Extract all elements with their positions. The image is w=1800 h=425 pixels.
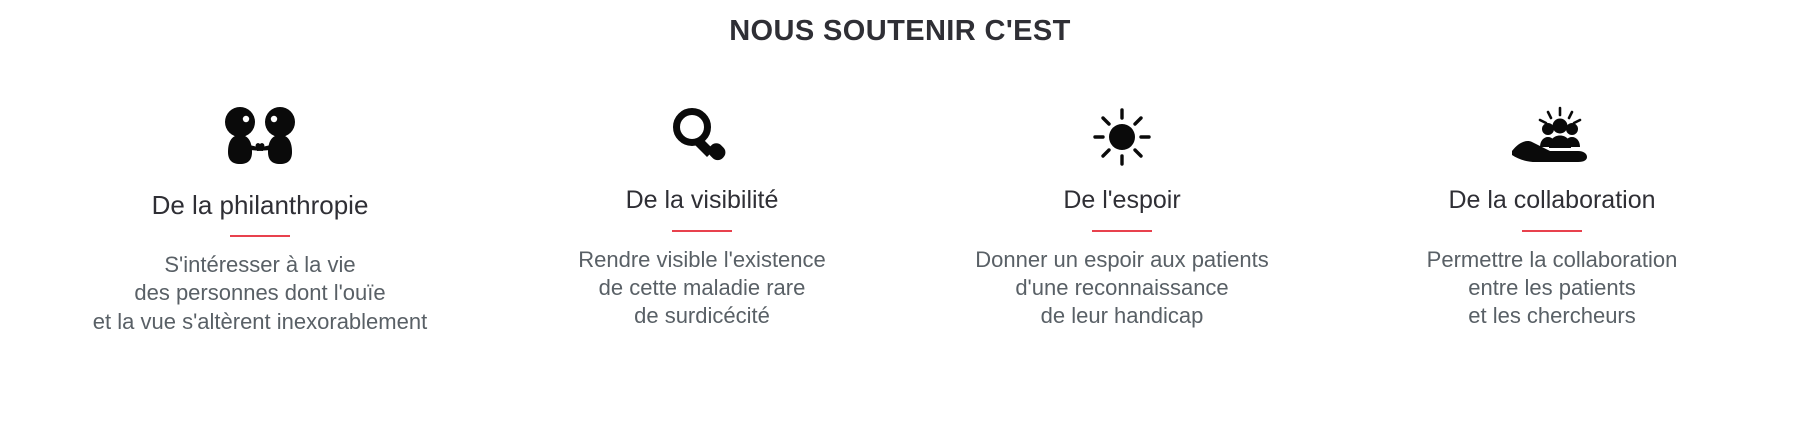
title-divider [1522,230,1582,232]
two-people-giving-icon [218,95,302,167]
body-line: de leur handicap [975,302,1269,330]
magnifying-glass-icon [667,95,737,167]
page-title: NOUS SOUTENIR C'EST [0,14,1800,49]
column-body: S'intéresser à la vie des personnes dont… [93,251,427,335]
body-line: de cette maladie rare [578,274,826,302]
value-column-espoir: De l'espoir Donner un espoir aux patient… [912,95,1332,331]
body-line: et la vue s'altèrent inexorablement [93,308,427,336]
column-title: De l'espoir [1063,185,1180,216]
column-title: De la philanthropie [152,189,369,222]
body-line: S'intéresser à la vie [93,251,427,279]
body-line: des personnes dont l'ouïe [93,279,427,307]
title-divider [1092,230,1152,232]
column-body: Permettre la collaboration entre les pat… [1427,246,1678,330]
sun-icon [1090,95,1154,167]
title-divider [230,235,290,237]
body-line: Rendre visible l'existence [578,246,826,274]
nous-soutenir-section: NOUS SOUTENIR C'EST [0,0,1800,425]
body-line: et les chercheurs [1427,302,1678,330]
column-body: Donner un espoir aux patients d'une reco… [975,246,1269,330]
column-body: Rendre visible l'existence de cette mala… [578,246,826,330]
body-line: de surdicécité [578,302,826,330]
body-line: d'une reconnaissance [975,274,1269,302]
body-line: Permettre la collaboration [1427,246,1678,274]
hand-holding-people-icon [1506,95,1598,167]
title-divider [672,230,732,232]
body-line: entre les patients [1427,274,1678,302]
value-column-visibilite: De la visibilité Rendre visible l'existe… [492,95,912,331]
body-line: Donner un espoir aux patients [975,246,1269,274]
value-columns: De la philanthropie S'intéresser à la vi… [0,95,1800,336]
column-title: De la collaboration [1448,185,1655,216]
column-title: De la visibilité [626,185,779,216]
value-column-collaboration: De la collaboration Permettre la collabo… [1332,95,1772,331]
value-column-philanthropie: De la philanthropie S'intéresser à la vi… [28,95,492,336]
